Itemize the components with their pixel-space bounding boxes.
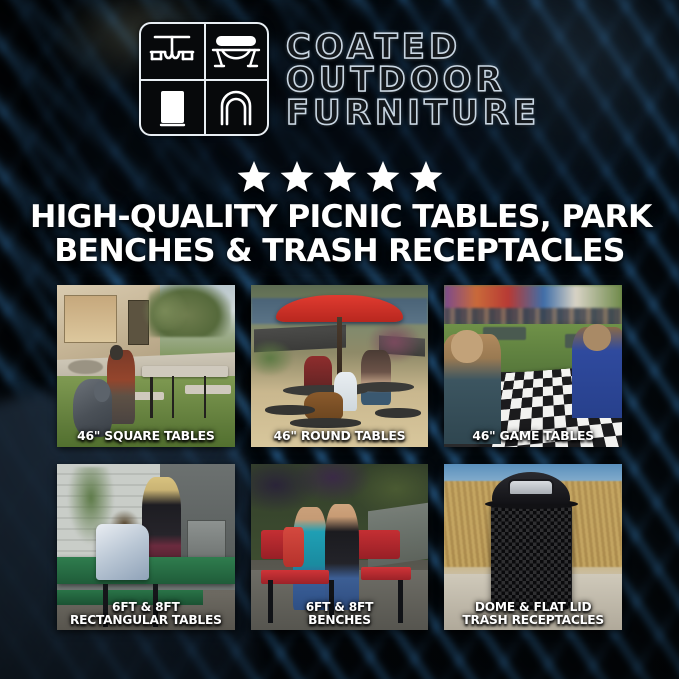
star-icon [409, 160, 443, 193]
trash-receptacle-icon [141, 79, 204, 134]
caption-line-2: RECTANGULAR TABLES [60, 614, 232, 627]
product-caption: 6FT & 8FT BENCHES [251, 601, 429, 627]
brand-wordmark: COATED OUTDOOR FURNITURE [286, 29, 540, 130]
product-caption: 46" SQUARE TABLES [57, 429, 235, 442]
product-caption: 46" GAME TABLES [444, 429, 622, 442]
product-caption: 6FT & 8FT RECTANGULAR TABLES [57, 601, 235, 627]
star-icon [366, 160, 400, 193]
picnic-table-icon [141, 24, 204, 79]
caption-line-2: TRASH RECEPTACLES [447, 614, 619, 627]
product-trash-receptacles[interactable]: DOME & FLAT LID TRASH RECEPTACLES [444, 464, 622, 630]
product-grid: 46" SQUARE TABLES 46" ROUND TAB [57, 285, 622, 630]
product-round-tables[interactable]: 46" ROUND TABLES [251, 285, 429, 447]
headline-line-1: HIGH-QUALITY PICNIC TABLES, PARK [30, 200, 649, 234]
product-photo [251, 285, 429, 447]
park-bench-icon [204, 24, 267, 79]
product-benches[interactable]: 6FT & 8FT BENCHES [251, 464, 429, 630]
product-rectangular-tables[interactable]: 6FT & 8FT RECTANGULAR TABLES [57, 464, 235, 630]
product-square-tables[interactable]: 46" SQUARE TABLES [57, 285, 235, 447]
advertisement-banner: COATED OUTDOOR FURNITURE HIGH-QUALITY PI… [0, 0, 679, 679]
rating-stars [0, 160, 679, 193]
product-game-tables[interactable]: 46" GAME TABLES [444, 285, 622, 447]
star-icon [323, 160, 357, 193]
brand-line-2: OUTDOOR [286, 64, 540, 96]
logo-icon-grid [139, 22, 269, 136]
product-photo [57, 285, 235, 447]
star-icon [237, 160, 271, 193]
brand-line-3: FURNITURE [286, 97, 540, 129]
caption-line-2: BENCHES [254, 614, 426, 627]
bike-rack-icon [204, 79, 267, 134]
product-caption: 46" ROUND TABLES [251, 429, 429, 442]
headline-line-2: BENCHES & TRASH RECEPTACLES [30, 234, 649, 268]
brand-line-1: COATED [286, 31, 540, 63]
product-photo [444, 285, 622, 447]
brand-logo: COATED OUTDOOR FURNITURE [0, 22, 679, 136]
headline: HIGH-QUALITY PICNIC TABLES, PARK BENCHES… [30, 200, 649, 268]
product-caption: DOME & FLAT LID TRASH RECEPTACLES [444, 601, 622, 627]
star-icon [280, 160, 314, 193]
